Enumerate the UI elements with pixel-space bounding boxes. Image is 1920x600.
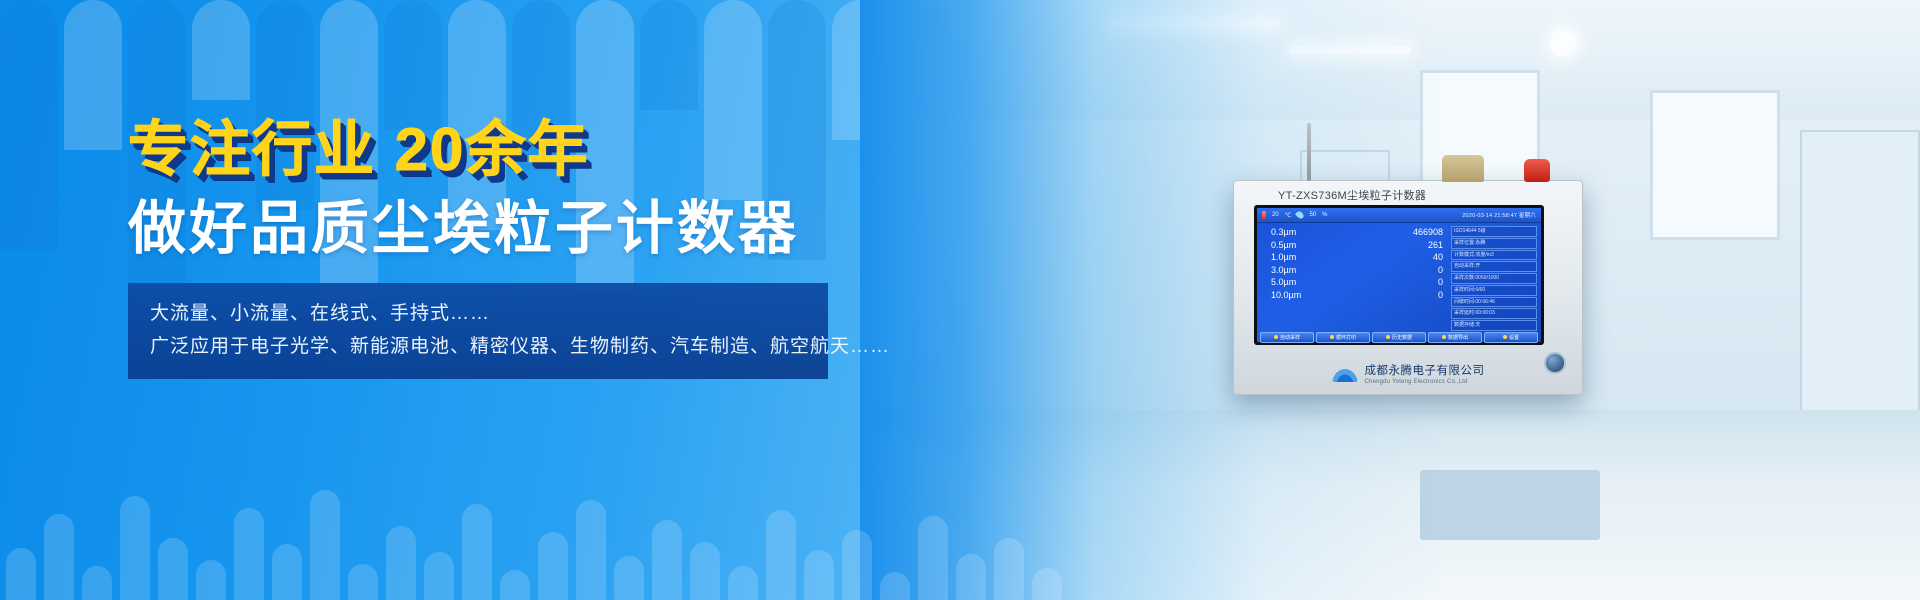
tab-settings[interactable]: 设置: [1484, 332, 1538, 343]
tab-dot-icon: [1442, 335, 1446, 339]
subtitle-block: 大流量、小流量、在线式、手持式…… 广泛应用于电子光学、新能源电池、精密仪器、生…: [128, 283, 828, 380]
headline-secondary: 做好品质尘埃粒子计数器: [128, 197, 888, 261]
reading-row: 0.5µm 261: [1261, 240, 1447, 252]
tab-dot-icon: [1274, 335, 1278, 339]
particle-size: 0.3µm: [1271, 227, 1296, 239]
tab-auto-sample[interactable]: 自动采样: [1260, 332, 1314, 343]
datetime-label: 2020-03-14 21:58:47 星期六: [1462, 211, 1536, 219]
yoteng-logo-icon: [1332, 369, 1358, 382]
tab-label: 设置: [1509, 334, 1519, 341]
info-row: 采样次数:0050/1000: [1451, 273, 1537, 284]
screen-tab-bar[interactable]: 自动采样 循环打印 历史数据 数据导出: [1257, 331, 1541, 344]
thermometer-icon: [1262, 211, 1266, 220]
info-row: 计数模式:浓度/m3: [1451, 250, 1537, 261]
reading-row: 10.0µm 0: [1261, 290, 1447, 302]
info-row: 采样位置:永腾: [1451, 238, 1537, 249]
info-row: 采样时间:6/60: [1451, 285, 1537, 296]
promo-banner: 专注行业 20余年 做好品质尘埃粒子计数器 大流量、小流量、在线式、手持式…… …: [0, 0, 1920, 600]
info-row: 数据存储:天: [1451, 320, 1537, 331]
decorative-equalizer: [0, 475, 1100, 600]
particle-readings-list: 0.3µm 466908 0.5µm 261 1.0µm 40 3.0µm: [1261, 226, 1447, 331]
subtitle-line-2: 广泛应用于电子光学、新能源电池、精密仪器、生物制药、汽车制造、航空航天……: [150, 330, 806, 363]
humidity-drop-icon: [1295, 210, 1305, 220]
particle-count: 466908: [1413, 227, 1443, 239]
temperature-unit: ℃: [1285, 212, 1292, 219]
particle-size: 10.0µm: [1271, 290, 1301, 302]
tab-label: 数据导出: [1448, 334, 1468, 341]
info-row: 间歇时间:00:06:46: [1451, 297, 1537, 308]
particle-size: 1.0µm: [1271, 252, 1296, 264]
particle-count: 40: [1433, 252, 1443, 264]
tab-loop-print[interactable]: 循环打印: [1316, 332, 1370, 343]
particle-count: 0: [1438, 290, 1443, 302]
info-row: 自动采样:开: [1451, 261, 1537, 272]
alarm-beacon-icon: [1524, 159, 1550, 182]
info-row: ISO14644 5级: [1451, 226, 1537, 237]
banner-copy: 专注行业 20余年 做好品质尘埃粒子计数器 大流量、小流量、在线式、手持式…… …: [128, 118, 888, 379]
reading-row: 3.0µm 0: [1261, 265, 1447, 277]
particle-size: 5.0µm: [1271, 277, 1296, 289]
reading-row: 5.0µm 0: [1261, 277, 1447, 289]
tab-dot-icon: [1386, 335, 1390, 339]
gold-connector-icon: [1442, 155, 1484, 182]
tab-dot-icon: [1503, 335, 1507, 339]
reading-row: 0.3µm 466908: [1261, 227, 1447, 239]
screen-status-bar: 20 ℃ 50 % 2020-03-14 21:58:47 星期六: [1257, 208, 1541, 223]
headline-primary: 专注行业 20余年: [128, 118, 888, 181]
tab-label: 循环打印: [1336, 334, 1356, 341]
particle-counter-device: YT-ZXS736M尘埃粒子计数器 20 ℃ 50 % 2020-03-14 2…: [1233, 180, 1583, 395]
antenna-icon: [1307, 123, 1311, 181]
particle-count: 261: [1428, 240, 1443, 252]
particle-count: 0: [1438, 265, 1443, 277]
particle-size: 0.5µm: [1271, 240, 1296, 252]
tab-data-export[interactable]: 数据导出: [1428, 332, 1482, 343]
particle-size: 3.0µm: [1271, 265, 1296, 277]
device-screen[interactable]: 20 ℃ 50 % 2020-03-14 21:58:47 星期六 0.3µm …: [1254, 205, 1544, 345]
reading-row: 1.0µm 40: [1261, 252, 1447, 264]
humidity-unit: %: [1322, 212, 1327, 218]
tab-label: 历史数据: [1392, 334, 1412, 341]
temperature-value: 20: [1272, 212, 1279, 218]
info-row: 采样延时:00:00:03: [1451, 308, 1537, 319]
device-info-panel: ISO14644 5级 采样位置:永腾 计数模式:浓度/m3 自动采样:开 采样…: [1451, 226, 1537, 331]
humidity-value: 50: [1309, 212, 1316, 218]
brand-name-en: Chengdu Yoteng Electronics Co.,Ltd: [1365, 379, 1485, 387]
device-branding: 成都永腾电子有限公司 Chengdu Yoteng Electronics Co…: [1234, 364, 1582, 386]
tab-dot-icon: [1330, 335, 1334, 339]
particle-count: 0: [1438, 277, 1443, 289]
tab-label: 自动采样: [1280, 334, 1300, 341]
device-model-label: YT-ZXS736M尘埃粒子计数器: [1278, 187, 1426, 203]
power-button[interactable]: [1544, 352, 1566, 374]
tab-history-data[interactable]: 历史数据: [1372, 332, 1426, 343]
brand-name-cn: 成都永腾电子有限公司: [1365, 364, 1485, 378]
subtitle-line-1: 大流量、小流量、在线式、手持式……: [150, 297, 806, 330]
